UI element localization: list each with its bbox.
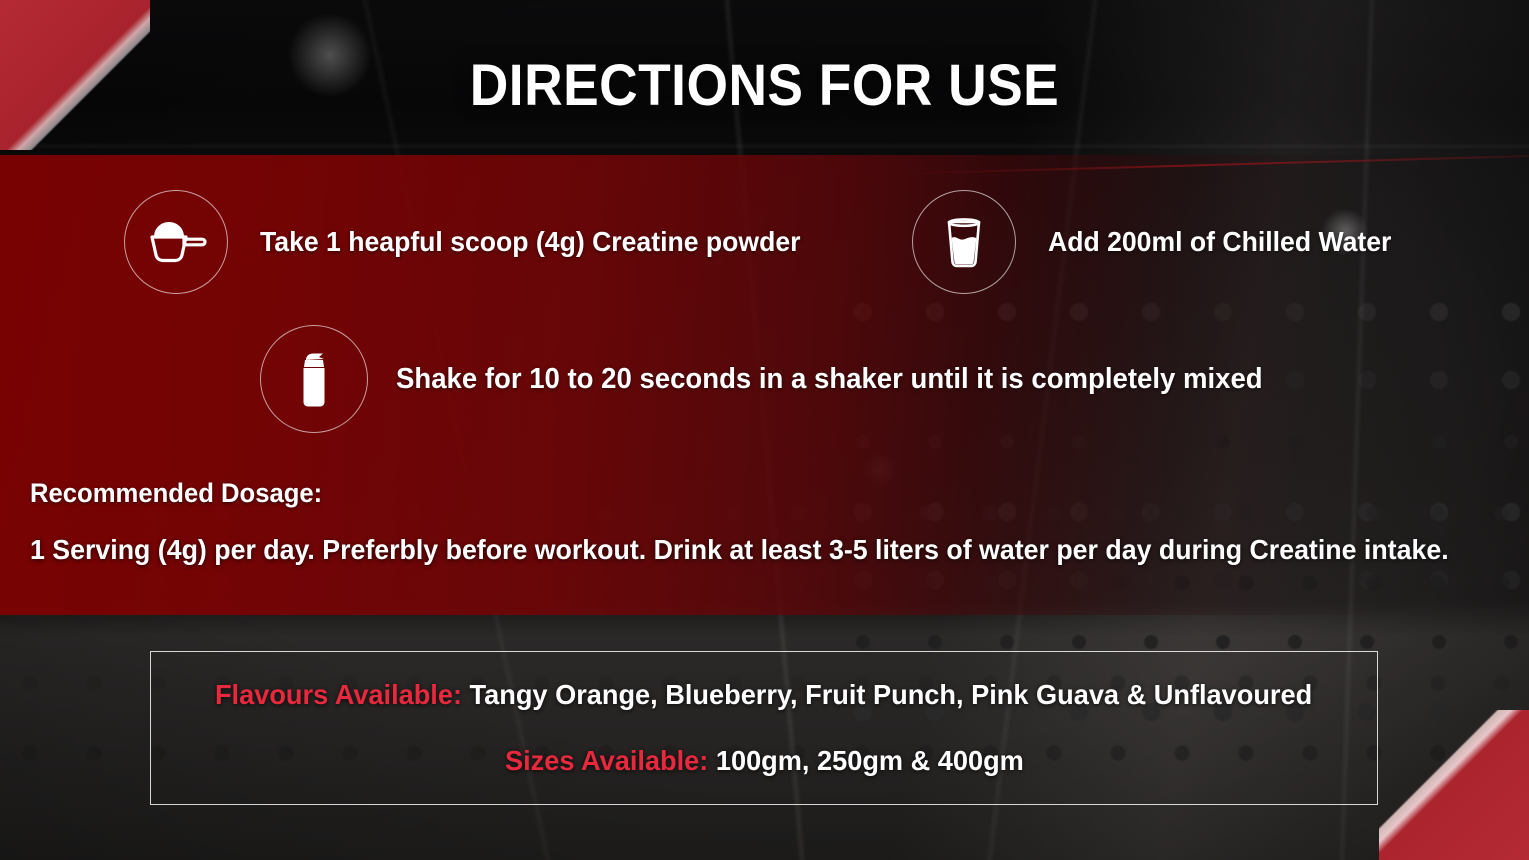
step-label-3: Shake for 10 to 20 seconds in a shaker u…	[396, 363, 1263, 396]
water-glass-icon	[912, 190, 1016, 294]
corner-triangle-bottom-right	[1379, 710, 1529, 860]
sizes-value: 100gm, 250gm & 400gm	[715, 745, 1023, 776]
page-title: DIRECTIONS FOR USE	[61, 52, 1468, 119]
flavours-row: Flavours Available: Tangy Orange, Bluebe…	[215, 679, 1312, 711]
dosage-label: Recommended Dosage:	[30, 478, 1435, 509]
dosage-text: 1 Serving (4g) per day. Preferbly before…	[30, 534, 1442, 566]
step-item-2: Add 200ml of Chilled Water	[912, 190, 1409, 294]
flavours-value: Tangy Orange, Blueberry, Fruit Punch, Pi…	[470, 679, 1313, 710]
step-label-1: Take 1 heapful scoop (4g) Creatine powde…	[260, 226, 800, 258]
flavours-label: Flavours Available:	[215, 679, 462, 710]
directions-for-use-slide: DIRECTIONS FOR USE Take 1 heapful scoop …	[0, 0, 1529, 860]
scoop-icon	[124, 190, 228, 294]
step-label-2: Add 200ml of Chilled Water	[1048, 226, 1391, 258]
sizes-label: Sizes Available:	[505, 745, 708, 776]
dosage-section: Recommended Dosage: 1 Serving (4g) per d…	[30, 478, 1509, 566]
shaker-bottle-icon	[260, 325, 368, 433]
availability-box: Flavours Available: Tangy Orange, Bluebe…	[150, 651, 1378, 805]
step-item-3: Shake for 10 to 20 seconds in a shaker u…	[260, 325, 1308, 433]
sizes-row: Sizes Available: 100gm, 250gm & 400gm	[505, 745, 1024, 777]
step-item-1: Take 1 heapful scoop (4g) Creatine powde…	[124, 190, 829, 294]
